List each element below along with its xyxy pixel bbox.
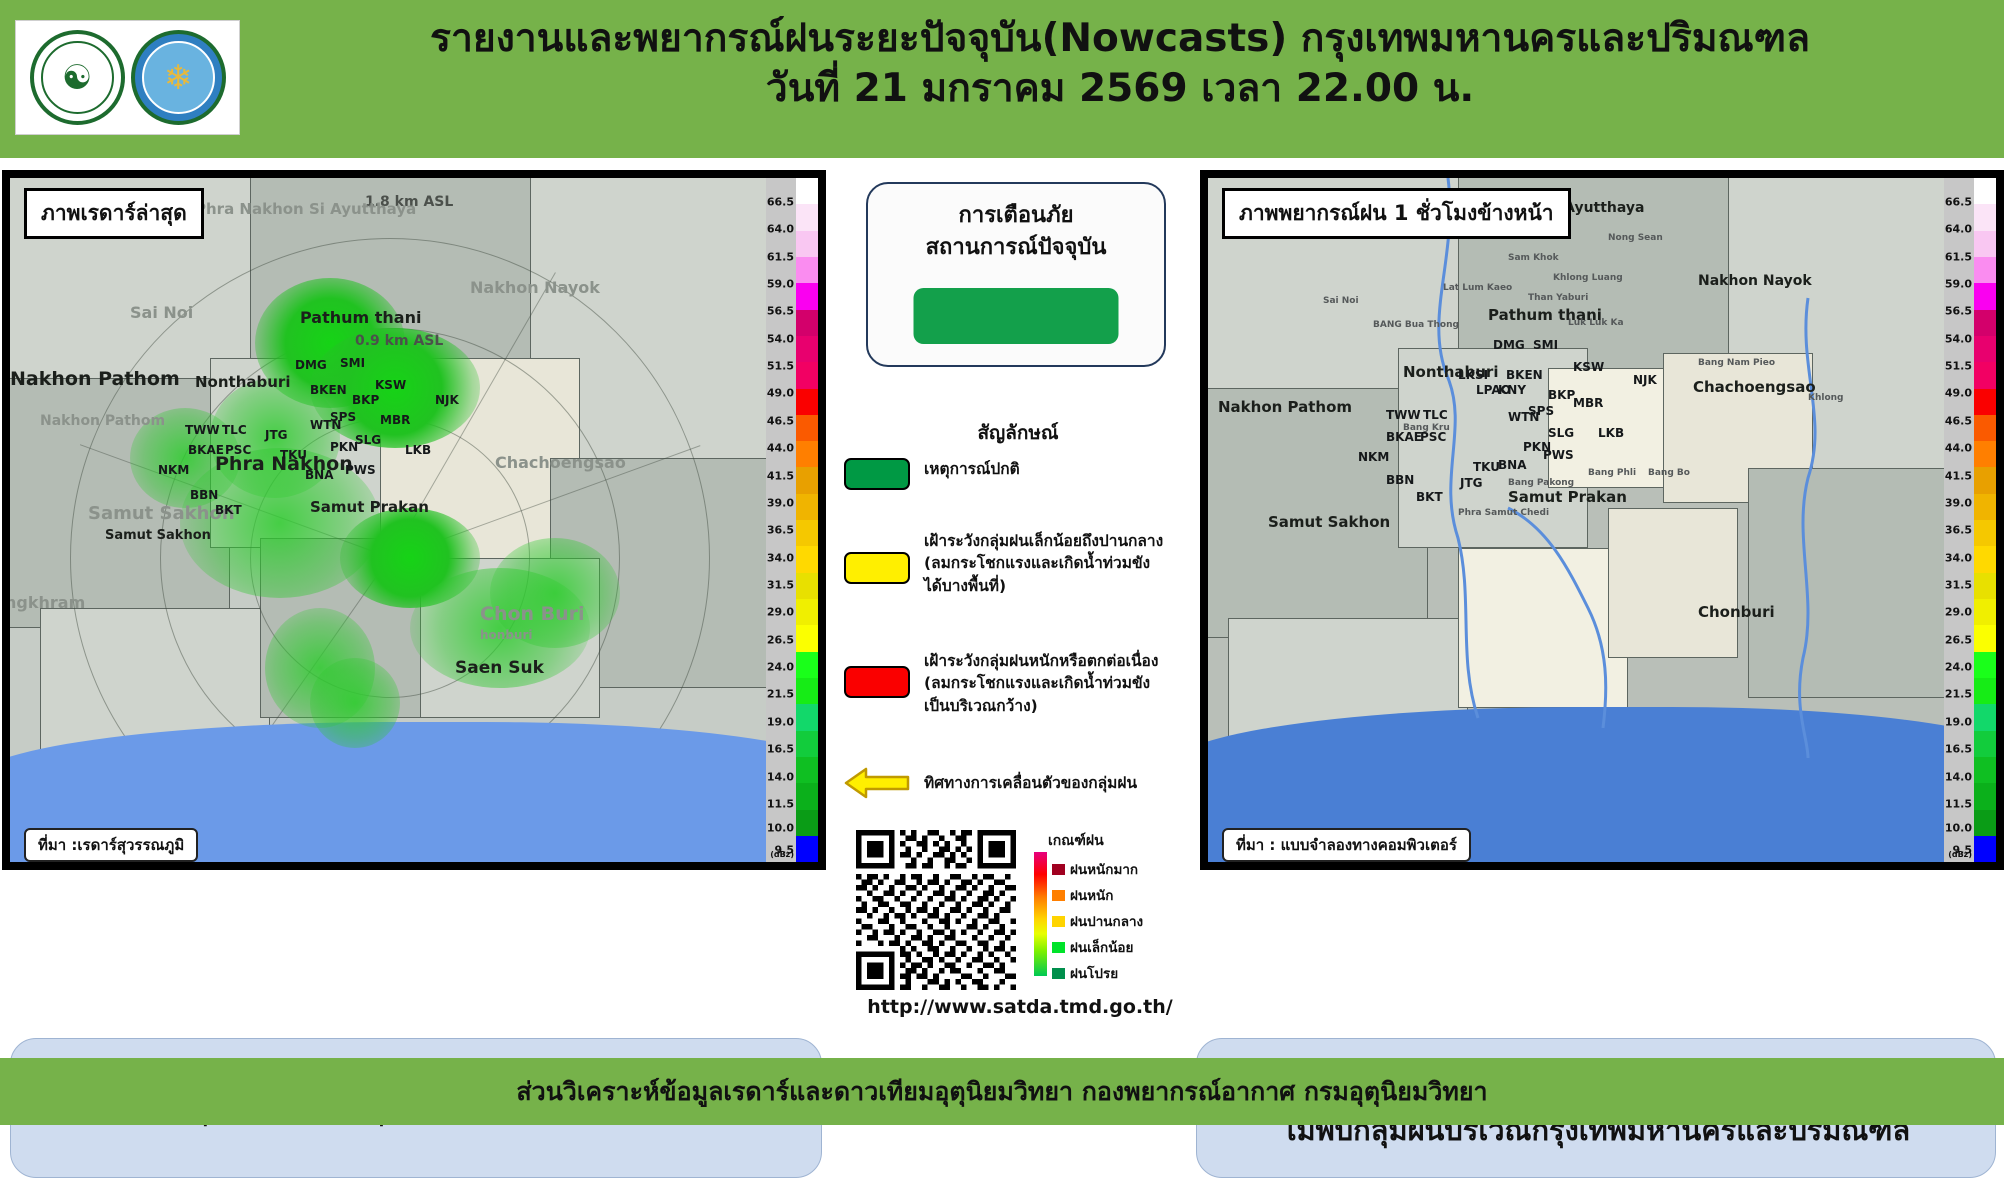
- rain-criteria-title: เกณฑ์ฝน: [1034, 830, 1194, 852]
- colorbar-segment: [796, 704, 818, 730]
- symbols-legend-title: สัญลักษณ์: [836, 418, 1200, 448]
- forecast-map-panel[interactable]: Suphan Buri Phra Nakhon Si Ayutthaya Non…: [1200, 170, 2004, 870]
- district-code: NKM: [158, 463, 189, 477]
- colorbar-segment: [1974, 257, 1996, 283]
- colorbar-segment: [796, 520, 818, 546]
- left-arrow-icon: [844, 766, 910, 800]
- district-code: TWW: [1386, 408, 1421, 422]
- legend-swatch-yellow: [844, 552, 910, 584]
- page-title: รายงานและพยากรณ์ฝนระยะปัจจุบัน(Nowcasts)…: [240, 14, 2000, 114]
- colorbar-segment: [1974, 573, 1996, 599]
- colorbar-segment: [796, 783, 818, 809]
- center-legend-column: การเตือนภัย สถานการณ์ปัจจุบัน สัญลักษณ์ …: [836, 158, 1200, 1058]
- colorbar-unit: (dBz): [770, 850, 794, 859]
- rain-criteria-item: ฝนเล็กน้อย: [1052, 936, 1133, 958]
- colorbar-segment: [796, 731, 818, 757]
- district-code: PSC: [1420, 430, 1446, 444]
- qr-and-rain-scale: เกณฑ์ฝน ฝนหนักมาก ฝนหนัก ฝนปานกลาง ฝนเล็…: [844, 830, 1196, 1015]
- district-code: JTG: [1460, 476, 1483, 490]
- colorbar-segment: [796, 310, 818, 336]
- rain-label-drizzle: ฝนโปรย: [1070, 962, 1118, 984]
- colorbar-segment: [1974, 362, 1996, 388]
- legend-item-light-moderate: เฝ้าระวังกลุ่มฝนเล็กน้อยถึงปานกลาง (ลมกร…: [844, 530, 1196, 597]
- district-code: BBN: [1386, 473, 1414, 487]
- colorbar-segment: [796, 494, 818, 520]
- colorbar-segment: [1974, 652, 1996, 678]
- rain-swatch-light: [1052, 942, 1065, 953]
- colorbar-segment: [796, 362, 818, 388]
- map-label: Samut Prakan: [1508, 488, 1627, 506]
- alert-title-line1: การเตือนภัย: [868, 200, 1164, 232]
- map-label: Sai Noi: [130, 303, 193, 322]
- legend-label-movement-direction: ทิศทางการเคลื่อนตัวของกลุ่มฝน: [924, 772, 1137, 794]
- colorbar-segment: [1974, 810, 1996, 836]
- colorbar-segment: [1974, 441, 1996, 467]
- colorbar-segment: [1974, 336, 1996, 362]
- district-code: NJK: [1633, 373, 1657, 387]
- forecast-colorbar-ticks: 66.5 64.0 61.5 59.0 56.5 54.0 51.5 49.0 …: [1944, 178, 1974, 862]
- colorbar-segment: [1974, 704, 1996, 730]
- district-code: KSW: [375, 378, 406, 392]
- legend-item-heavy: เฝ้าระวังกลุ่มฝนหนักหรือตกต่อเนื่อง (ลมก…: [844, 650, 1196, 717]
- map-label: Luk Luk Ka: [1568, 318, 1624, 328]
- page-header: ☯ ❄ รายงานและพยากรณ์ฝนระยะปัจจุบัน(Nowca…: [0, 0, 2004, 158]
- colorbar-segment: [1974, 731, 1996, 757]
- map-label: Samut Sakhon: [1268, 513, 1390, 531]
- district-code: BKEN: [1506, 368, 1543, 382]
- district-code: SMI: [1533, 338, 1558, 352]
- map-label: Phra Nakhon Si Ayutthaya: [195, 200, 416, 218]
- district-code: PKN: [330, 440, 358, 454]
- rain-swatch-very-heavy: [1052, 864, 1065, 875]
- district-code: NJK: [435, 393, 459, 407]
- colorbar-segment: [796, 599, 818, 625]
- district-code: BKT: [1416, 490, 1443, 504]
- colorbar-segment: [1974, 757, 1996, 783]
- map-label: Bang Bo: [1648, 468, 1690, 478]
- district-code: BKAE: [1386, 430, 1422, 444]
- legend-label-normal: เหตุการณ์ปกติ: [924, 458, 1020, 480]
- colorbar-segment: [796, 625, 818, 651]
- district-code: BKAE: [188, 443, 224, 457]
- map-label: Nakhon Nayok: [1698, 273, 1812, 289]
- map-label: Bang Phli: [1588, 468, 1636, 478]
- colorbar-segment: [1974, 546, 1996, 572]
- rain-label-very-heavy: ฝนหนักมาก: [1070, 858, 1138, 880]
- forecast-colorbar: 66.5 64.0 61.5 59.0 56.5 54.0 51.5 49.0 …: [1944, 178, 1996, 862]
- colorbar-segment: [1974, 231, 1996, 257]
- colorbar-segment: [1974, 678, 1996, 704]
- royal-seal-emblem-icon: ☯: [30, 30, 125, 125]
- tmd-seal-icon: ❄: [131, 30, 226, 125]
- legend-item-normal: เหตุการณ์ปกติ: [844, 458, 1196, 490]
- colorbar-segment: [796, 257, 818, 283]
- current-alert-box: การเตือนภัย สถานการณ์ปัจจุบัน: [866, 182, 1166, 367]
- legend-swatch-green: [844, 458, 910, 490]
- colorbar-segment: [1974, 310, 1996, 336]
- main-content: 1.8 km ASL 0.9 km ASL Suphan Buri Phra N…: [0, 158, 2004, 1058]
- colorbar-segment: [1974, 520, 1996, 546]
- colorbar-segment: [1974, 389, 1996, 415]
- district-code: LKB: [405, 443, 431, 457]
- district-code: JTG: [265, 428, 288, 442]
- radar-colorbar: 66.5 64.0 61.5 59.0 56.5 54.0 51.5 49.0 …: [766, 178, 818, 862]
- map-label: Sam Khok: [1508, 253, 1559, 263]
- district-code: MBR: [380, 413, 410, 427]
- colorbar-segment: [1974, 467, 1996, 493]
- map-label: Chon Buri: [480, 603, 585, 625]
- colorbar-segment: [1974, 204, 1996, 230]
- footer-text: ส่วนวิเคราะห์ข้อมูลเรดาร์และดาวเทียมอุตุ…: [516, 1072, 1487, 1112]
- map-label: Nakhon Pathom: [40, 413, 165, 429]
- district-code: TLC: [1423, 408, 1448, 422]
- radar-map-canvas[interactable]: 1.8 km ASL 0.9 km ASL Suphan Buri Phra N…: [10, 178, 818, 862]
- map-label: Chonburi: [1698, 603, 1775, 621]
- website-url-link[interactable]: http://www.satda.tmd.go.th/: [844, 996, 1196, 1018]
- colorbar-segment: [1974, 415, 1996, 441]
- page-title-line1: รายงานและพยากรณ์ฝนระยะปัจจุบัน(Nowcasts)…: [240, 14, 2000, 64]
- colorbar-segment: [796, 836, 818, 862]
- map-label: Nakhon Pathom: [1218, 398, 1352, 416]
- legend-item-movement-direction: ทิศทางการเคลื่อนตัวของกลุ่มฝน: [844, 766, 1196, 800]
- legend-label-line: (ลมกระโชกแรงและเกิดน้ำท่วมขัง: [924, 672, 1158, 694]
- colorbar-segment: [796, 231, 818, 257]
- district-code: BKT: [215, 503, 242, 517]
- legend-label-line: เฝ้าระวังกลุ่มฝนเล็กน้อยถึงปานกลาง: [924, 530, 1163, 552]
- map-label: Samut Prakan: [310, 498, 429, 516]
- district-code: SLG: [355, 433, 381, 447]
- colorbar-segment: [796, 652, 818, 678]
- colorbar-segment: [796, 178, 818, 204]
- map-label: honburi: [480, 628, 533, 642]
- colorbar-segment: [796, 283, 818, 309]
- rain-swatch-moderate: [1052, 916, 1065, 927]
- radar-panel-tag: ภาพเรดาร์ล่าสุด: [24, 188, 204, 239]
- district-code: LKB: [1598, 426, 1624, 440]
- map-label: Lat Lum Kaeo: [1443, 283, 1512, 293]
- district-code: BKP: [1548, 388, 1575, 402]
- colorbar-segment: [796, 441, 818, 467]
- colorbar-segment: [1974, 494, 1996, 520]
- rain-swatch-drizzle: [1052, 968, 1065, 979]
- colorbar-segment: [796, 415, 818, 441]
- district-code: TLC: [222, 423, 247, 437]
- district-code: BNA: [1498, 458, 1526, 472]
- legend-label-line: ได้บางพื้นที่): [924, 575, 1163, 597]
- map-label: Samut Sakhon: [105, 528, 211, 543]
- radar-echo: [310, 658, 400, 748]
- colorbar-segment: [796, 204, 818, 230]
- colorbar-segment: [796, 389, 818, 415]
- legend-label-line: (ลมกระโชกแรงและเกิดน้ำท่วมขัง: [924, 552, 1163, 574]
- colorbar-unit: (dBz): [1948, 850, 1972, 859]
- map-label: Khlong Luang: [1553, 273, 1623, 283]
- colorbar-segment: [1974, 625, 1996, 651]
- map-label: Samut Sakhon: [88, 503, 235, 524]
- district-code: PWS: [345, 463, 376, 477]
- rain-criteria-item: ฝนหนัก: [1052, 884, 1113, 906]
- district-code: TWW: [185, 423, 220, 437]
- radar-colorbar-ticks: 66.5 64.0 61.5 59.0 56.5 54.0 51.5 49.0 …: [766, 178, 796, 862]
- forecast-colorbar-strip: [1974, 178, 1996, 862]
- alert-status-badge: [914, 288, 1119, 344]
- rain-criteria-item: ฝนปานกลาง: [1052, 910, 1143, 932]
- page-title-line2: วันที่ 21 มกราคม 2569 เวลา 22.00 น.: [240, 64, 2000, 114]
- colorbar-segment: [796, 336, 818, 362]
- map-label: Sai Noi: [1323, 296, 1359, 306]
- colorbar-segment: [1974, 836, 1996, 862]
- district-code: SPS: [1528, 404, 1554, 418]
- forecast-panel-tag: ภาพพยากรณ์ฝน 1 ชั่วโมงข้างหน้า: [1222, 188, 1571, 239]
- legend-swatch-red: [844, 666, 910, 698]
- map-label: Pathum thani: [300, 308, 421, 327]
- colorbar-segment: [796, 573, 818, 599]
- district-code: PKN: [1523, 440, 1551, 454]
- rain-label-light: ฝนเล็กน้อย: [1070, 936, 1133, 958]
- map-label: Nakhon Pathom: [10, 368, 180, 390]
- district-code: BBN: [190, 488, 218, 502]
- district-code: NKM: [1358, 450, 1389, 464]
- radar-colorbar-strip: [796, 178, 818, 862]
- alert-title: การเตือนภัย สถานการณ์ปัจจุบัน: [868, 200, 1164, 264]
- district-code: DMG: [1493, 338, 1525, 352]
- district-code: SPS: [330, 410, 356, 424]
- map-label: Saen Suk: [455, 658, 544, 678]
- map-label: Khlong: [1808, 393, 1844, 403]
- district-code: MBR: [1573, 396, 1603, 410]
- map-label: Chachoengsao: [495, 453, 626, 472]
- district-code: BKEN: [310, 383, 347, 397]
- forecast-map-canvas[interactable]: Suphan Buri Phra Nakhon Si Ayutthaya Non…: [1208, 178, 1996, 862]
- colorbar-segment: [1974, 178, 1996, 204]
- colorbar-segment: [796, 810, 818, 836]
- alert-title-line2: สถานการณ์ปัจจุบัน: [868, 232, 1164, 264]
- district-code: TKU: [280, 448, 307, 462]
- rain-criteria-item: ฝนหนักมาก: [1052, 858, 1138, 880]
- colorbar-segment: [1974, 599, 1996, 625]
- district-code: LPAO: [1476, 383, 1511, 397]
- district-code: SMI: [340, 356, 365, 370]
- district-code: LKSI: [1458, 368, 1488, 382]
- district-code: TKU: [1473, 460, 1500, 474]
- colorbar-segment: [1974, 283, 1996, 309]
- rain-label-heavy: ฝนหนัก: [1070, 884, 1113, 906]
- legend-label-line: เฝ้าระวังกลุ่มฝนหนักหรือตกต่อเนื่อง: [924, 650, 1158, 672]
- colorbar-segment: [796, 678, 818, 704]
- legend-label-line: เป็นบริเวณกว้าง): [924, 695, 1158, 717]
- radar-map-panel[interactable]: 1.8 km ASL 0.9 km ASL Suphan Buri Phra N…: [2, 170, 826, 870]
- legend-label-light-moderate: เฝ้าระวังกลุ่มฝนเล็กน้อยถึงปานกลาง (ลมกร…: [924, 530, 1163, 597]
- legend-label-heavy: เฝ้าระวังกลุ่มฝนหนักหรือตกต่อเนื่อง (ลมก…: [924, 650, 1158, 717]
- district-code: SLG: [1548, 426, 1574, 440]
- district-code: PSC: [225, 443, 251, 457]
- map-label: Than Yaburi: [1528, 293, 1588, 303]
- map-label: Nakhon Nayok: [470, 278, 600, 297]
- district-code: KSW: [1573, 360, 1604, 374]
- map-label: Nonthaburi: [195, 373, 290, 391]
- radar-panel-source: ที่มา :เรดาร์สุวรรณภูมิ: [24, 828, 198, 862]
- district-code: BNA: [305, 468, 333, 482]
- map-label: Chachoengsao: [1693, 378, 1816, 396]
- page-footer: ส่วนวิเคราะห์ข้อมูลเรดาร์และดาวเทียมอุตุ…: [0, 1058, 2004, 1125]
- colorbar-segment: [796, 546, 818, 572]
- district-code: BKP: [352, 393, 379, 407]
- map-label: Nong Sean: [1608, 233, 1663, 243]
- rain-criteria-item: ฝนโปรย: [1052, 962, 1118, 984]
- colorbar-segment: [796, 467, 818, 493]
- map-label: ngkhram: [10, 593, 85, 612]
- rain-criteria-scale: เกณฑ์ฝน ฝนหนักมาก ฝนหนัก ฝนปานกลาง ฝนเล็…: [1034, 830, 1194, 990]
- map-label: Bang Nam Pieo: [1698, 358, 1775, 368]
- colorbar-segment: [1974, 783, 1996, 809]
- map-label: Bang Pakong: [1508, 478, 1574, 488]
- district-code: DMG: [295, 358, 327, 372]
- altitude-label-2: 0.9 km ASL: [355, 333, 443, 349]
- rain-label-moderate: ฝนปานกลาง: [1070, 910, 1143, 932]
- rain-swatch-heavy: [1052, 890, 1065, 901]
- forecast-panel-source: ที่มา : แบบจำลองทางคอมพิวเตอร์: [1222, 828, 1471, 862]
- map-label: Phra Samut Chedi: [1458, 508, 1549, 518]
- rain-gradient-bar: [1034, 852, 1047, 976]
- logo-box: ☯ ❄: [15, 20, 240, 135]
- qr-code-icon[interactable]: [856, 830, 1016, 990]
- map-label: BANG Bua Thong: [1373, 320, 1459, 330]
- colorbar-segment: [796, 757, 818, 783]
